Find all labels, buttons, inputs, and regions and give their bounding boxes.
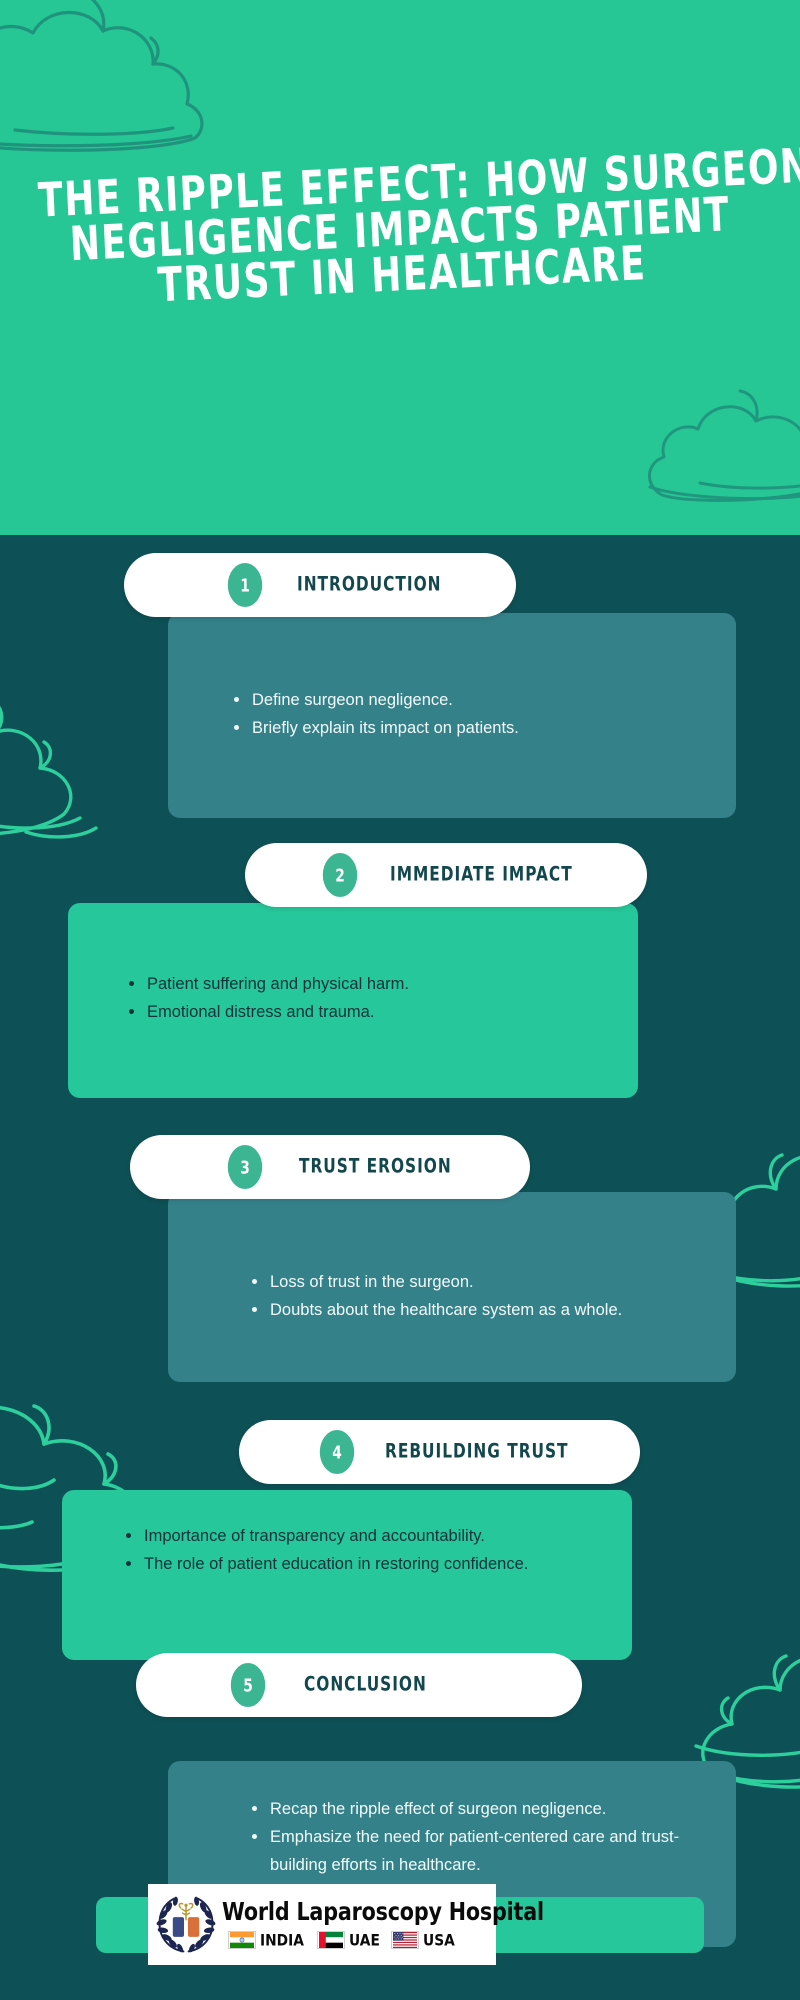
- section-3-header-pill[interactable]: 3 TRUST EROSION: [130, 1135, 530, 1199]
- section-2-number-badge: 2: [323, 853, 357, 897]
- section-1-bullet-list: Define surgeon negligence. Briefly expla…: [230, 686, 700, 742]
- infographic-poster: THE RIPPLE EFFECT: HOW SURGEON NEGLIGENC…: [0, 0, 800, 2000]
- section-1-title: INTRODUCTION: [297, 574, 441, 597]
- list-item: Loss of trust in the surgeon.: [248, 1268, 668, 1296]
- country-label-usa: USA: [423, 1930, 455, 1949]
- country-label-uae: UAE: [349, 1930, 380, 1949]
- list-item: The role of patient education in restori…: [122, 1550, 592, 1578]
- flag-india-icon: [228, 1931, 256, 1949]
- section-5-header-pill[interactable]: 5 CONCLUSION: [136, 1653, 582, 1717]
- list-item: Importance of transparency and accountab…: [122, 1522, 592, 1550]
- section-2-header-pill[interactable]: 2 IMMEDIATE IMPACT: [245, 843, 647, 907]
- list-item: Recap the ripple effect of surgeon negli…: [248, 1795, 688, 1823]
- list-item: Emphasize the need for patient-centered …: [248, 1823, 688, 1879]
- cloud-bush-icon-bottom-right: [640, 355, 800, 530]
- section-4-header-pill[interactable]: 4 REBUILDING TRUST: [239, 1420, 640, 1484]
- laurel-wreath-caduceus-icon: [153, 1892, 219, 1958]
- list-item: Patient suffering and physical harm.: [125, 970, 595, 998]
- section-5-number-badge: 5: [231, 1663, 265, 1707]
- logo-text-block: World Laparoscopy Hospital INDIA UAE: [219, 1900, 564, 1949]
- hero-banner: THE RIPPLE EFFECT: HOW SURGEON NEGLIGENC…: [0, 0, 800, 535]
- hospital-name: World Laparoscopy Hospital: [222, 1899, 544, 1927]
- flag-uae-icon: [317, 1931, 345, 1949]
- list-item: Emotional distress and trauma.: [125, 998, 595, 1026]
- section-1-header-pill[interactable]: 1 INTRODUCTION: [124, 553, 516, 617]
- country-flag-row: INDIA UAE: [222, 1931, 564, 1949]
- section-2-title: IMMEDIATE IMPACT: [390, 864, 573, 887]
- section-2-bullet-list: Patient suffering and physical harm. Emo…: [125, 970, 595, 1026]
- flag-usa-icon: [391, 1931, 419, 1949]
- section-5-title: CONCLUSION: [304, 1674, 427, 1697]
- list-item: Briefly explain its impact on patients.: [230, 714, 700, 742]
- poster-title: THE RIPPLE EFFECT: HOW SURGEON NEGLIGENC…: [0, 145, 800, 316]
- section-5-bullet-list: Recap the ripple effect of surgeon negli…: [248, 1795, 688, 1879]
- section-3-bullet-list: Loss of trust in the surgeon. Doubts abo…: [248, 1268, 668, 1324]
- section-3-title: TRUST EROSION: [299, 1156, 452, 1179]
- cloud-bush-icon-top-left: [0, 0, 285, 178]
- section-4-number-badge: 4: [320, 1430, 354, 1474]
- section-3-number-badge: 3: [228, 1145, 262, 1189]
- country-label-india: INDIA: [260, 1930, 304, 1949]
- section-4-title: REBUILDING TRUST: [385, 1441, 569, 1464]
- section-4-bullet-list: Importance of transparency and accountab…: [122, 1522, 592, 1578]
- list-item: Define surgeon negligence.: [230, 686, 700, 714]
- list-item: Doubts about the healthcare system as a …: [248, 1296, 668, 1324]
- hospital-logo[interactable]: World Laparoscopy Hospital INDIA UAE: [148, 1884, 496, 1965]
- section-1-number-badge: 1: [228, 563, 262, 607]
